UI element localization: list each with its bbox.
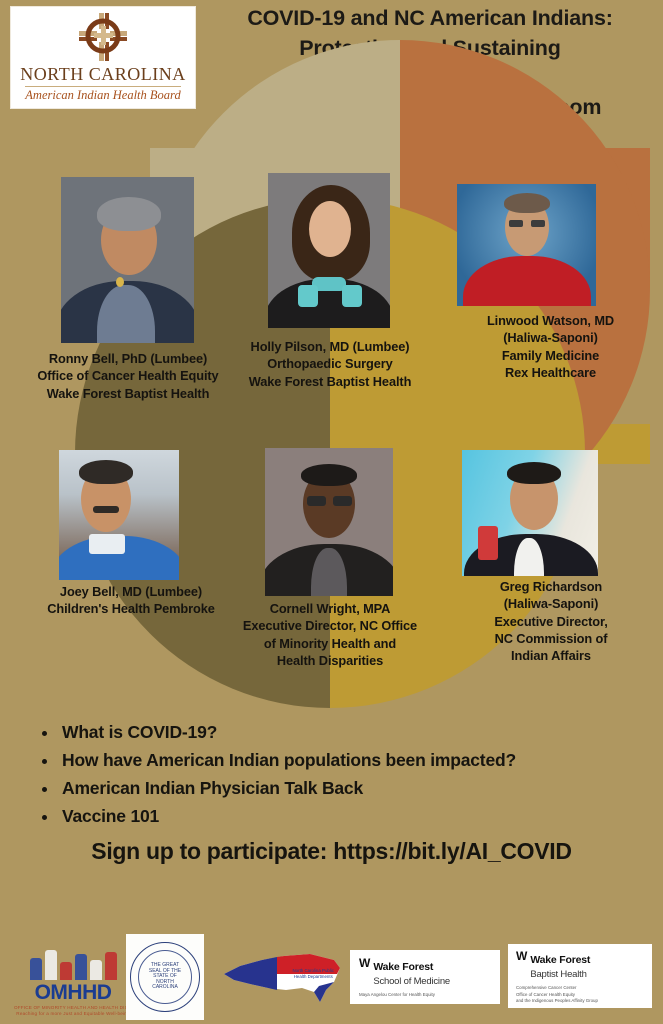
caption-linwood-watson: Linwood Watson, MD (Haliwa-Saponi) Famil… bbox=[438, 312, 663, 381]
wake-forest-mark-icon: W bbox=[516, 950, 525, 962]
agenda-item: What is COVID-19? bbox=[36, 722, 636, 743]
agenda-item: How have American Indian populations bee… bbox=[36, 750, 636, 771]
speaker-photo-cornell-wright bbox=[265, 448, 393, 596]
speaker-photo-ronny-bell bbox=[61, 177, 194, 343]
speaker-name: Cornell Wright, MPA bbox=[214, 600, 446, 617]
caption-cornell-wright: Cornell Wright, MPA Executive Director, … bbox=[214, 600, 446, 669]
speaker-role: Family Medicine bbox=[438, 347, 663, 364]
speaker-tribe: (Haliwa-Saponi) bbox=[440, 595, 662, 612]
speaker-name: Joey Bell, MD (Lumbee) bbox=[0, 583, 262, 600]
state-seal-icon: THE GREAT SEAL OF THE STATE OF NORTH CAR… bbox=[130, 942, 200, 1012]
footer-logos: OMHHD OFFICE OF MINORITY HEALTH AND HEAL… bbox=[0, 928, 663, 1024]
speaker-photo-greg-richardson bbox=[462, 450, 598, 576]
speaker-role-1: Executive Director, NC Office bbox=[214, 617, 446, 634]
wf-brand: Wake Forest bbox=[530, 954, 590, 966]
speaker-role-3: Health Disparities bbox=[214, 652, 446, 669]
caption-greg-richardson: Greg Richardson (Haliwa-Saponi) Executiv… bbox=[440, 578, 662, 664]
wake-forest-school-of-medicine-logo: W Wake Forest School of Medicine Maya An… bbox=[350, 950, 500, 1004]
omhhd-figures-icon bbox=[14, 940, 132, 980]
omhhd-acronym: OMHHD bbox=[14, 982, 132, 1003]
wake-forest-mark-icon: W bbox=[359, 957, 368, 969]
state-seal-label: THE GREAT SEAL OF THE STATE OF NORTH CAR… bbox=[131, 943, 199, 1011]
omhhd-subtitle-1: OFFICE OF MINORITY HEALTH AND HEALTH DIS… bbox=[14, 1005, 132, 1010]
wf-center-lines: Comprehensive Cancer Center Office of Ca… bbox=[516, 985, 644, 1005]
omhhd-subtitle-2: Reaching for a more Just and Equitable W… bbox=[14, 1011, 132, 1016]
poster-root: NORTH CAROLINA American Indian Health Bo… bbox=[0, 0, 663, 1024]
speaker-role: Orthopaedic Surgery bbox=[215, 355, 445, 372]
nc-map-badge-label: North Carolina Public Health Departments bbox=[293, 968, 335, 979]
wf-brand: Wake Forest bbox=[373, 961, 433, 973]
speaker-photo-holly-pilson bbox=[268, 173, 390, 328]
title-line-1: COVID-19 and NC American Indians: bbox=[200, 4, 660, 34]
speaker-photo-joey-bell bbox=[59, 450, 179, 580]
agenda-list: What is COVID-19? How have American Indi… bbox=[36, 722, 636, 834]
wf-division: School of Medicine bbox=[373, 976, 450, 987]
medicine-wheel-cross-icon bbox=[73, 11, 133, 63]
speakers-artwork-panel: Ronny Bell, PhD (Lumbee) Office of Cance… bbox=[0, 148, 663, 738]
wake-forest-baptist-health-logo: W Wake Forest Baptist Health Comprehensi… bbox=[508, 944, 652, 1008]
speaker-role-3: Indian Affairs bbox=[440, 647, 662, 664]
speaker-role-2: NC Commission of bbox=[440, 630, 662, 647]
nc-public-health-map-logo: North Carolina Public Health Departments bbox=[222, 946, 342, 1010]
omhhd-logo: OMHHD OFFICE OF MINORITY HEALTH AND HEAL… bbox=[14, 940, 132, 1020]
speaker-tribe: (Haliwa-Saponi) bbox=[438, 329, 663, 346]
speaker-name: Holly Pilson, MD (Lumbee) bbox=[215, 338, 445, 355]
speaker-org: Rex Healthcare bbox=[438, 364, 663, 381]
nc-state-seal-logo: THE GREAT SEAL OF THE STATE OF NORTH CAR… bbox=[126, 934, 204, 1020]
speaker-name: Greg Richardson bbox=[440, 578, 662, 595]
speaker-photo-linwood-watson bbox=[457, 184, 596, 306]
agenda-item: Vaccine 101 bbox=[36, 806, 636, 827]
speaker-role-2: of Minority Health and bbox=[214, 635, 446, 652]
speaker-org: Wake Forest Baptist Health bbox=[215, 373, 445, 390]
signup-link[interactable]: Sign up to participate: https://bit.ly/A… bbox=[0, 838, 663, 865]
speaker-name: Linwood Watson, MD bbox=[438, 312, 663, 329]
speaker-role-1: Executive Director, bbox=[440, 613, 662, 630]
caption-holly-pilson: Holly Pilson, MD (Lumbee) Orthopaedic Su… bbox=[215, 338, 445, 390]
agenda-item: American Indian Physician Talk Back bbox=[36, 778, 636, 799]
wf-division: Baptist Health bbox=[530, 969, 590, 980]
wf-center-line: Maya Angelou Center for Health Equity bbox=[359, 992, 491, 999]
